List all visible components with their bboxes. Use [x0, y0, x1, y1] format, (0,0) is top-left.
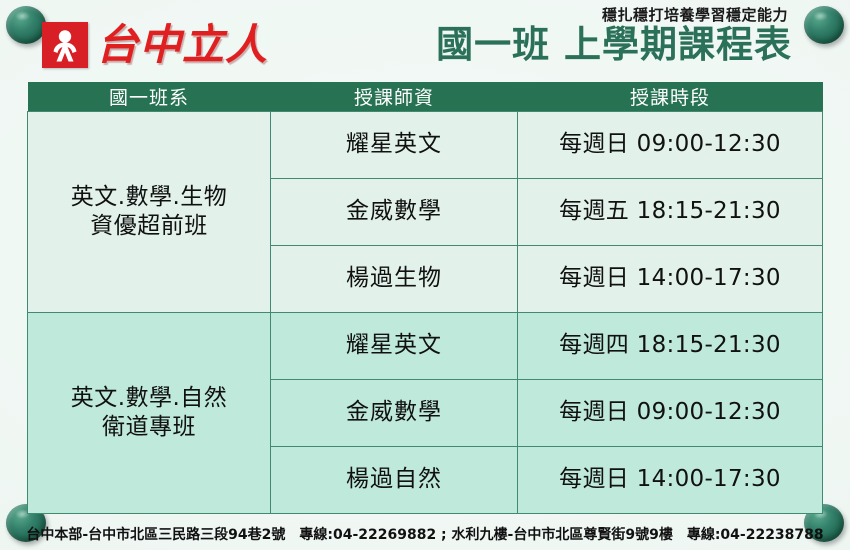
time-cell: 每週日 14:00-17:30 — [518, 446, 823, 513]
teacher-cell: 耀星英文 — [271, 312, 518, 379]
person-logo-icon — [42, 22, 88, 68]
teacher-cell: 金威數學 — [271, 178, 518, 245]
column-header-program: 國一班系 — [28, 82, 271, 111]
time-cell: 每週五 18:15-21:30 — [518, 178, 823, 245]
time-cell: 每週四 18:15-21:30 — [518, 312, 823, 379]
column-header-time: 授課時段 — [518, 82, 823, 111]
title-block: 穩扎穩打培養學習穩定能力 國一班 上學期課程表 — [436, 6, 792, 65]
contact-info: 台中本部-台中市北區三民路三段94巷2號 專線:04-22269882 ; 水利… — [0, 524, 850, 544]
poster-footer: 台中本部-台中市北區三民路三段94巷2號 專線:04-22269882 ; 水利… — [0, 524, 850, 544]
column-header-teacher: 授課師資 — [271, 82, 518, 111]
tagline: 穩扎穩打培養學習穩定能力 — [436, 6, 788, 24]
time-cell: 每週日 09:00-12:30 — [518, 379, 823, 446]
program-cell: 英文.數學.生物 資優超前班 — [28, 111, 271, 312]
program-line-1: 英文.數學.自然 — [71, 385, 228, 411]
table-header-row: 國一班系 授課師資 授課時段 — [28, 82, 823, 111]
teacher-cell: 楊過生物 — [271, 245, 518, 312]
program-line-1: 英文.數學.生物 — [71, 184, 228, 210]
teacher-cell: 耀星英文 — [271, 111, 518, 178]
time-cell: 每週日 14:00-17:30 — [518, 245, 823, 312]
program-line-2: 資優超前班 — [90, 213, 208, 239]
schedule-table: 國一班系 授課師資 授課時段 英文.數學.生物 資優超前班 耀星英文 每週日 0… — [27, 82, 823, 514]
brand-logo: 台中立人 — [42, 22, 268, 68]
table-row: 英文.數學.自然 衛道專班 耀星英文 每週四 18:15-21:30 — [28, 312, 823, 379]
brand-wordmark: 台中立人 — [96, 24, 268, 66]
program-line-2: 衛道專班 — [102, 414, 196, 440]
time-cell: 每週日 09:00-12:30 — [518, 111, 823, 178]
poster-header: 台中立人 穩扎穩打培養學習穩定能力 國一班 上學期課程表 — [0, 0, 850, 82]
table-row: 英文.數學.生物 資優超前班 耀星英文 每週日 09:00-12:30 — [28, 111, 823, 178]
poster-root: 台中立人 穩扎穩打培養學習穩定能力 國一班 上學期課程表 國一班系 授課師資 授… — [0, 0, 850, 550]
teacher-cell: 金威數學 — [271, 379, 518, 446]
program-cell: 英文.數學.自然 衛道專班 — [28, 312, 271, 513]
teacher-cell: 楊過自然 — [271, 446, 518, 513]
page-title: 國一班 上學期課程表 — [436, 25, 792, 65]
